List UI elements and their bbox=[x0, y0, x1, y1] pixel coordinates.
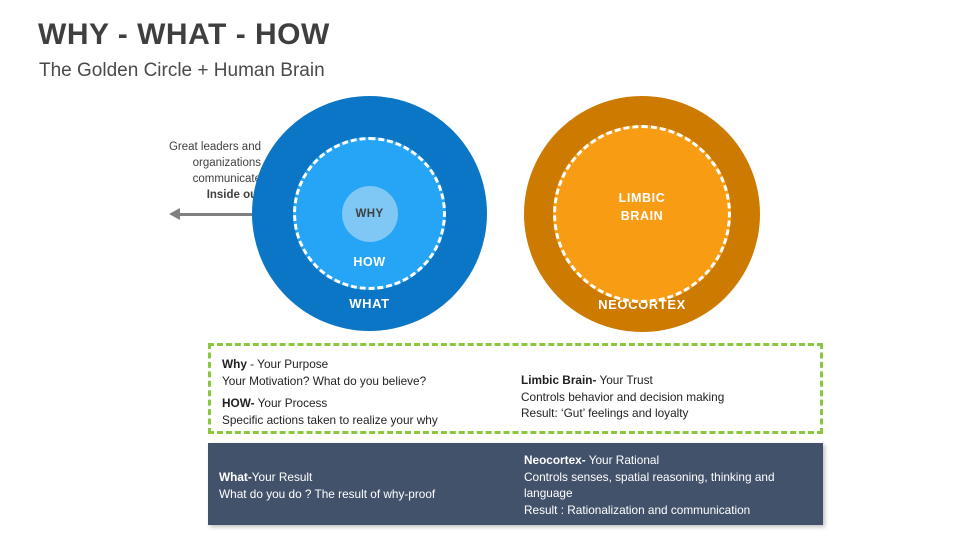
green-box-left-column: Why - Your Purpose Your Motivation? What… bbox=[222, 356, 522, 428]
what-heading-bold: What- bbox=[219, 470, 252, 484]
slide-canvas: WHY - WHAT - HOW The Golden Circle + Hum… bbox=[0, 0, 960, 540]
neocortex-heading: Neocortex- Your Rational bbox=[524, 452, 819, 469]
brain-circle-inner-limbic: LIMBIC BRAIN bbox=[553, 125, 731, 303]
what-heading: What-Your Result bbox=[219, 469, 524, 486]
how-detail: Specific actions taken to realize your w… bbox=[222, 412, 522, 429]
why-heading: Why - Your Purpose bbox=[222, 356, 522, 373]
page-subtitle: The Golden Circle + Human Brain bbox=[39, 60, 325, 82]
why-heading-rest: - Your Purpose bbox=[247, 357, 328, 371]
left-arrow-icon bbox=[169, 208, 180, 220]
golden-circle-how-label: HOW bbox=[296, 255, 443, 269]
limbic-label-line-2: BRAIN bbox=[621, 209, 664, 223]
annotation-line-2: organizations bbox=[131, 155, 261, 171]
dark-callout-box: What-Your Result What do you do ? The re… bbox=[208, 443, 823, 525]
limbic-label-line-1: LIMBIC bbox=[619, 191, 666, 205]
golden-circle-middle-how: HOW WHY bbox=[293, 137, 446, 290]
neocortex-heading-rest: Your Rational bbox=[586, 453, 659, 467]
golden-circle-what-label: WHAT bbox=[252, 296, 487, 311]
neocortex-detail-2: language bbox=[524, 485, 819, 502]
dark-box-left-column: What-Your Result What do you do ? The re… bbox=[219, 469, 524, 502]
golden-circle-outer-what: WHAT HOW WHY bbox=[252, 96, 487, 331]
why-detail: Your Motivation? What do you believe? bbox=[222, 373, 522, 390]
why-heading-bold: Why bbox=[222, 357, 247, 371]
what-detail-1: What do you do ? The result of why-proof bbox=[219, 486, 524, 503]
brain-circle-limbic-label: LIMBIC BRAIN bbox=[619, 189, 666, 225]
neocortex-heading-bold: Neocortex- bbox=[524, 453, 586, 467]
brain-circle-outer-neocortex: NEOCORTEX LIMBIC BRAIN bbox=[524, 96, 760, 332]
how-heading-bold: HOW- bbox=[222, 396, 255, 410]
dark-box-right-column: Neocortex- Your Rational Controls senses… bbox=[524, 452, 819, 518]
green-dashed-callout-box: Why - Your Purpose Your Motivation? What… bbox=[208, 343, 823, 434]
annotation-line-4: Inside out bbox=[131, 187, 261, 203]
what-heading-rest: Your Result bbox=[252, 470, 313, 484]
annotation-line-3: communicate bbox=[131, 171, 261, 187]
how-heading-rest: Your Process bbox=[255, 396, 328, 410]
neocortex-detail-1: Controls senses, spatial reasoning, thin… bbox=[524, 469, 819, 486]
annotation-line-1: Great leaders and bbox=[131, 139, 261, 155]
limbic-detail-1: Controls behavior and decision making bbox=[521, 389, 821, 406]
limbic-heading-bold: Limbic Brain- bbox=[521, 373, 596, 387]
how-heading: HOW- Your Process bbox=[222, 395, 522, 412]
neocortex-detail-3: Result : Rationalization and communicati… bbox=[524, 502, 819, 519]
golden-circle-inner-why: WHY bbox=[342, 186, 398, 242]
limbic-heading-rest: Your Trust bbox=[596, 373, 652, 387]
page-title: WHY - WHAT - HOW bbox=[38, 18, 330, 52]
limbic-detail-2: Result: ‘Gut’ feelings and loyalty bbox=[521, 405, 821, 422]
inside-out-annotation: Great leaders and organizations communic… bbox=[131, 139, 261, 203]
limbic-heading: Limbic Brain- Your Trust bbox=[521, 372, 821, 389]
green-box-right-column: Limbic Brain- Your Trust Controls behavi… bbox=[521, 372, 821, 422]
golden-circle-why-label: WHY bbox=[355, 208, 383, 220]
